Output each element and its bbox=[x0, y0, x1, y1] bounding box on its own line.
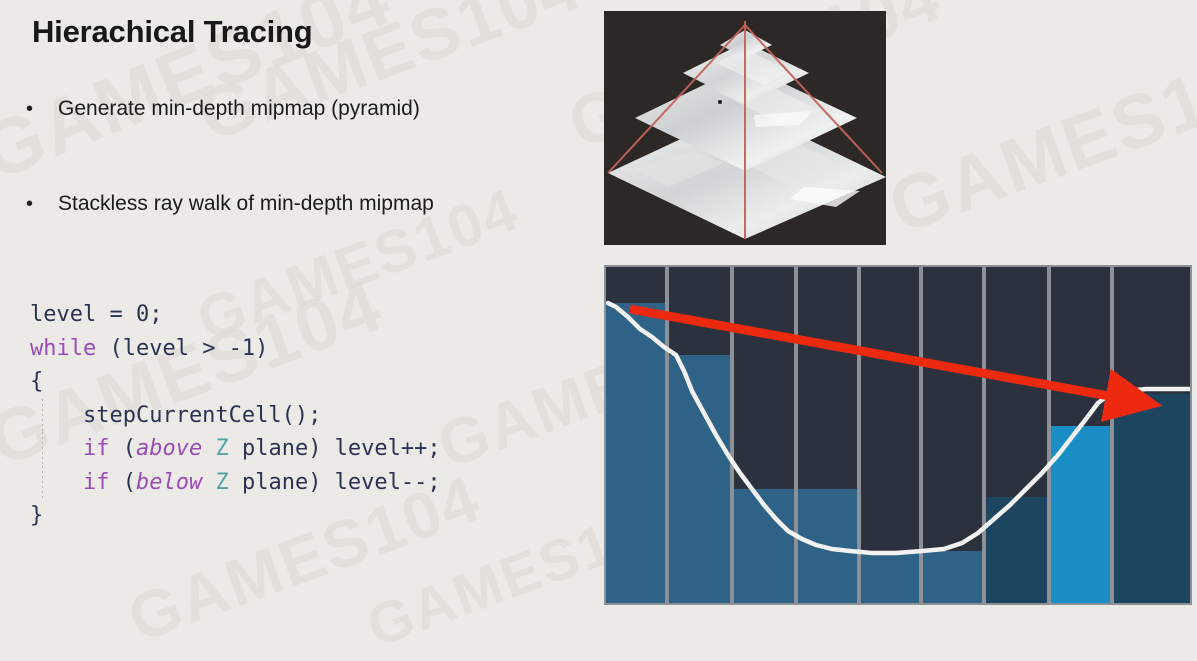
code-token: } bbox=[30, 503, 43, 528]
code-token bbox=[202, 470, 215, 495]
mipmap-pyramid-figure bbox=[604, 11, 886, 245]
min-depth-cell bbox=[921, 551, 984, 603]
code-token: = bbox=[96, 302, 136, 327]
code-token: Z bbox=[215, 470, 228, 495]
bullet-item-1: • Stackless ray walk of min-depth mipmap bbox=[26, 191, 434, 217]
page-title: Hierachical Tracing bbox=[32, 14, 313, 50]
code-line: while (level > -1) bbox=[30, 332, 441, 366]
code-line: level = 0; bbox=[30, 298, 441, 332]
code-token: Z bbox=[215, 436, 228, 461]
code-token: (level > -1) bbox=[96, 336, 268, 361]
watermark-text: GAMES104 bbox=[878, 26, 1197, 252]
code-token bbox=[30, 436, 83, 461]
code-token: above bbox=[136, 436, 202, 461]
pyramid-svg bbox=[604, 11, 886, 245]
code-token: level bbox=[30, 302, 96, 327]
code-token: ( bbox=[109, 470, 136, 495]
code-token: ( bbox=[109, 436, 136, 461]
code-token: plane) level++; bbox=[229, 436, 441, 461]
min-depth-cell bbox=[606, 303, 667, 603]
min-depth-cell bbox=[667, 355, 732, 603]
min-depth-cell bbox=[859, 551, 921, 603]
code-token: below bbox=[136, 470, 202, 495]
indent-guide bbox=[42, 399, 43, 433]
slide-left-pane: Hierachical Tracing • Generate min-depth… bbox=[0, 0, 600, 617]
code-line: { bbox=[30, 365, 441, 399]
min-depth-cell bbox=[984, 497, 1049, 603]
indent-guide bbox=[42, 432, 43, 466]
bullet-text: Stackless ray walk of min-depth mipmap bbox=[58, 191, 434, 217]
min-depth-cell bbox=[1112, 394, 1190, 603]
code-line: if (below Z plane) level--; bbox=[30, 466, 441, 500]
bullet-text: Generate min-depth mipmap (pyramid) bbox=[58, 96, 420, 122]
indent-guide bbox=[42, 466, 43, 500]
code-token: stepCurrentCell(); bbox=[30, 403, 321, 428]
bullet-marker-icon: • bbox=[26, 191, 42, 217]
code-line: stepCurrentCell(); bbox=[30, 399, 441, 433]
bullet-marker-icon: • bbox=[26, 96, 42, 122]
pyramid-sample-point-icon bbox=[718, 100, 722, 104]
bullet-item-0: • Generate min-depth mipmap (pyramid) bbox=[26, 96, 420, 122]
code-token: { bbox=[30, 369, 43, 394]
code-line: if (above Z plane) level++; bbox=[30, 432, 441, 466]
code-token: while bbox=[30, 336, 96, 361]
code-line: } bbox=[30, 499, 441, 533]
code-token bbox=[30, 470, 83, 495]
min-depth-chart-svg bbox=[606, 267, 1190, 603]
code-block: level = 0;while (level > -1){ stepCurren… bbox=[30, 298, 441, 533]
code-token: plane) level--; bbox=[229, 470, 441, 495]
code-token: if bbox=[83, 436, 110, 461]
code-token bbox=[202, 436, 215, 461]
code-token: if bbox=[83, 470, 110, 495]
code-token: 0; bbox=[136, 302, 163, 327]
min-depth-mipmap-figure bbox=[604, 265, 1192, 605]
